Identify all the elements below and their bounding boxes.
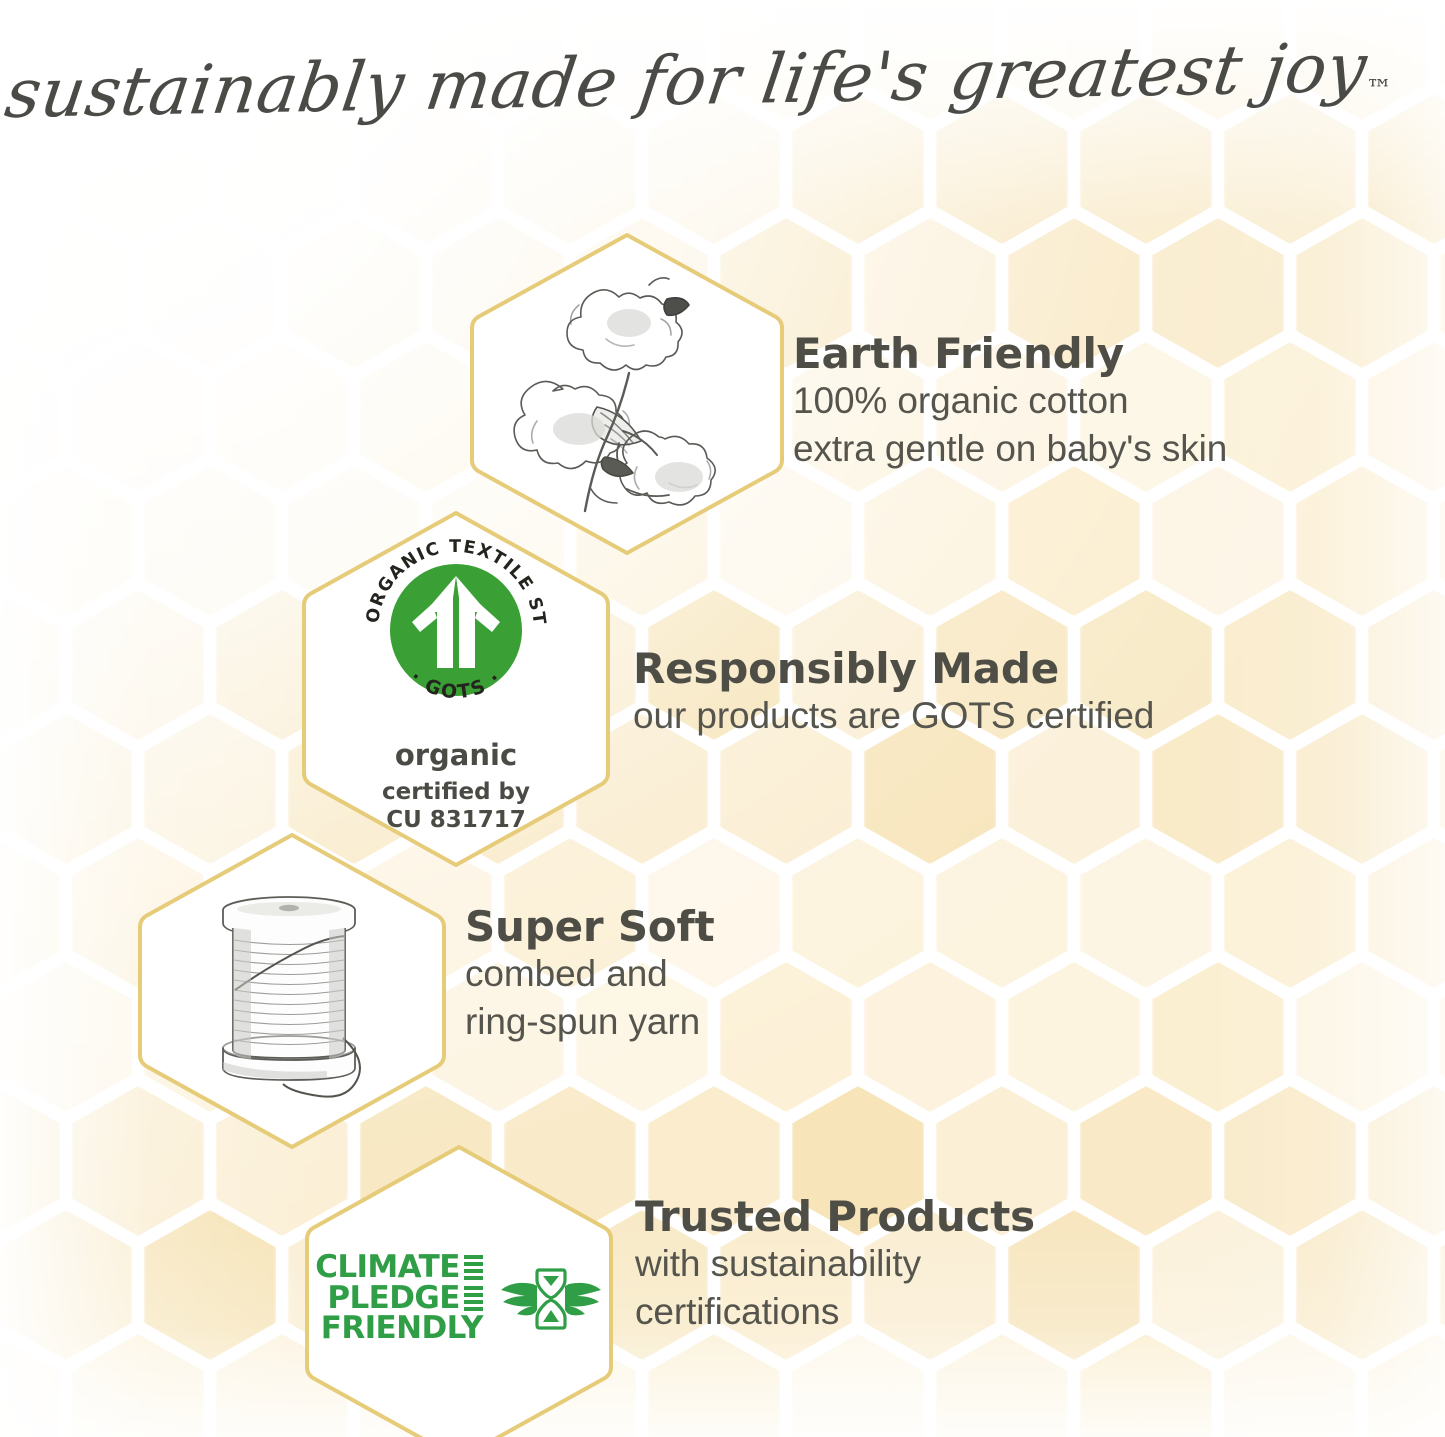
honeycomb-cell — [1008, 466, 1140, 616]
headline-script-text: sustainably made for life's greatest joy — [0, 29, 1371, 134]
honeycomb-cell — [1440, 218, 1445, 368]
gots-mark: GLOBAL ORGANIC TEXTILE STANDARD · GOTS · — [352, 526, 560, 734]
honeycomb-cell — [1224, 838, 1356, 988]
honeycomb-cell — [720, 962, 852, 1112]
honeycomb-cell — [864, 466, 996, 616]
honeycomb-cell — [1440, 714, 1445, 864]
hex-card-content: CLIMATE PLEDGE FRIENDLY — [303, 1142, 615, 1437]
hex-card-content — [136, 830, 448, 1152]
feature-line-1: our products are GOTS certified — [633, 692, 1154, 740]
honeycomb-cell — [1296, 714, 1428, 864]
honeycomb-cell — [0, 962, 132, 1112]
honeycomb-cell — [216, 342, 348, 492]
honeycomb-cell — [1368, 590, 1445, 740]
honeycomb-cell — [144, 218, 276, 368]
feature-title: Trusted Products — [635, 1193, 1035, 1240]
cpf-line-2: PLEDGE — [327, 1283, 459, 1314]
gots-certification-icon: GLOBAL ORGANIC TEXTILE STANDARD · GOTS · — [352, 526, 560, 734]
honeycomb-cell — [1440, 466, 1445, 616]
hex-card-content: GLOBAL ORGANIC TEXTILE STANDARD · GOTS ·… — [300, 508, 612, 870]
thread-spool-sketch-icon — [177, 878, 407, 1104]
winged-hourglass-icon — [499, 1254, 603, 1342]
honeycomb-cell — [0, 838, 60, 988]
feature-line-2: certifications — [635, 1288, 1035, 1336]
honeycomb-cell — [936, 838, 1068, 988]
feature-line-2: ring-spun yarn — [465, 998, 715, 1046]
honeycomb-cell — [1224, 1086, 1356, 1236]
honeycomb-cell — [72, 590, 204, 740]
honeycomb-cell — [1296, 962, 1428, 1112]
honeycomb-cell — [1296, 1210, 1428, 1360]
honeycomb-cell — [1152, 466, 1284, 616]
honeycomb-cell — [1152, 962, 1284, 1112]
honeycomb-cell — [1368, 1086, 1445, 1236]
cpf-line-3: FRIENDLY — [321, 1313, 483, 1344]
honeycomb-cell — [1152, 1210, 1284, 1360]
honeycomb-cell — [0, 342, 60, 492]
honeycomb-cell — [1080, 1086, 1212, 1236]
feature-text-super-soft: Super Soft combed and ring-spun yarn — [465, 903, 715, 1046]
feature-title: Super Soft — [465, 903, 715, 950]
honeycomb-cell — [288, 218, 420, 368]
honeycomb-cell — [1440, 1210, 1445, 1360]
honeycomb-cell — [1152, 714, 1284, 864]
hex-card-super-soft — [136, 830, 448, 1152]
honeycomb-cell — [864, 962, 996, 1112]
honeycomb-cell — [72, 1334, 204, 1437]
gots-organic-label: organic — [352, 738, 560, 772]
honeycomb-cell — [0, 1086, 60, 1236]
honeycomb-cell — [1296, 218, 1428, 368]
honeycomb-cell — [792, 838, 924, 988]
cotton-branch-sketch-icon — [501, 261, 753, 527]
honeycomb-cell — [0, 1210, 132, 1360]
climate-pledge-friendly-badge: CLIMATE PLEDGE FRIENDLY — [315, 1252, 603, 1344]
cpf-line-1: CLIMATE — [315, 1252, 460, 1283]
gots-certified-by-label: certified by — [352, 779, 560, 806]
feature-text-trusted-products: Trusted Products with sustainability cer… — [635, 1193, 1035, 1336]
honeycomb-cell — [1440, 0, 1445, 120]
honeycomb-cell — [792, 1334, 924, 1437]
honeycomb-cell — [0, 1334, 60, 1437]
feature-line-1: with sustainability — [635, 1240, 1035, 1288]
feature-text-responsibly-made: Responsibly Made our products are GOTS c… — [633, 645, 1154, 740]
feature-title: Earth Friendly — [793, 330, 1227, 377]
honeycomb-cell — [144, 466, 276, 616]
feature-line-1: combed and — [465, 950, 715, 998]
feature-line-2: extra gentle on baby's skin — [793, 425, 1227, 473]
honeycomb-cell — [0, 714, 132, 864]
honeycomb-cell — [144, 1210, 276, 1360]
honeycomb-cell — [1368, 342, 1445, 492]
honeycomb-cell — [648, 1334, 780, 1437]
hex-card-responsibly-made: GLOBAL ORGANIC TEXTILE STANDARD · GOTS ·… — [300, 508, 612, 870]
trademark-symbol: ™ — [1366, 75, 1392, 105]
honeycomb-cell — [0, 590, 60, 740]
page-title: sustainably made for life's greatest joy… — [0, 42, 1400, 121]
honeycomb-cell — [1296, 466, 1428, 616]
honeycomb-cell — [1224, 1334, 1356, 1437]
feature-text-earth-friendly: Earth Friendly 100% organic cotton extra… — [793, 330, 1227, 473]
honeycomb-cell — [1080, 838, 1212, 988]
honeycomb-cell — [1368, 1334, 1445, 1437]
honeycomb-cell — [1440, 962, 1445, 1112]
honeycomb-cell — [1224, 342, 1356, 492]
honeycomb-cell — [72, 342, 204, 492]
honeycomb-cell — [1080, 1334, 1212, 1437]
cpf-bars-icon — [464, 1255, 483, 1280]
promo-infographic: sustainably made for life's greatest joy… — [0, 0, 1445, 1437]
feature-title: Responsibly Made — [633, 645, 1154, 692]
honeycomb-cell — [1368, 838, 1445, 988]
honeycomb-cell — [1224, 590, 1356, 740]
climate-pledge-wordmark: CLIMATE PLEDGE FRIENDLY — [315, 1252, 483, 1344]
honeycomb-cell — [0, 218, 132, 368]
honeycomb-cell — [936, 1334, 1068, 1437]
hex-card-trusted-products: CLIMATE PLEDGE FRIENDLY — [303, 1142, 615, 1437]
feature-line-1: 100% organic cotton — [793, 377, 1227, 425]
honeycomb-cell — [0, 466, 132, 616]
honeycomb-cell — [1008, 962, 1140, 1112]
cpf-bars-icon — [464, 1286, 483, 1311]
gots-badge: GLOBAL ORGANIC TEXTILE STANDARD · GOTS ·… — [352, 526, 560, 833]
